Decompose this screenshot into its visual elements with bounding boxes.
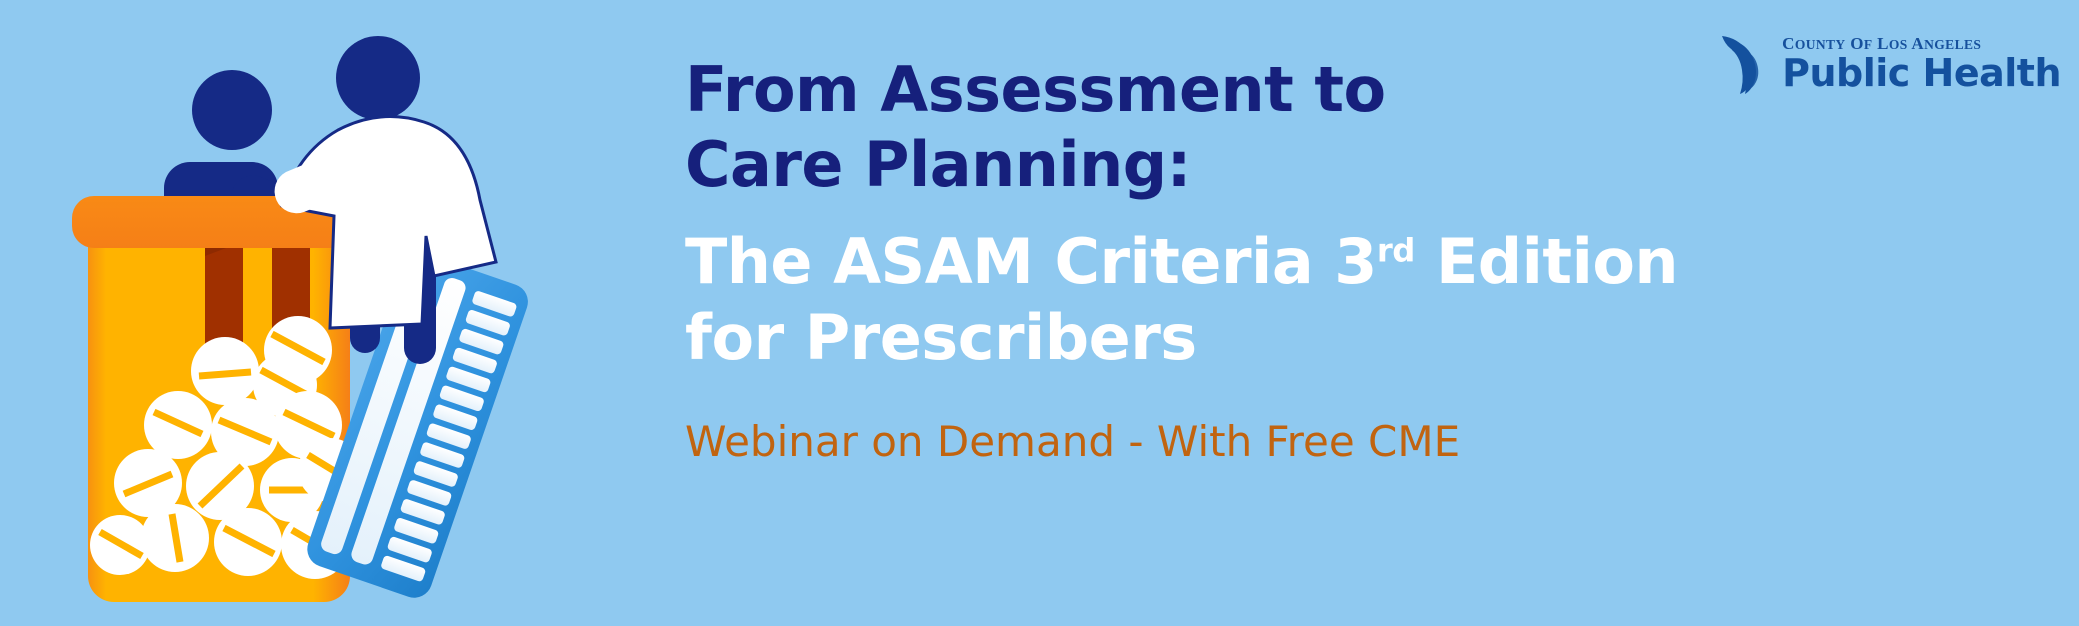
pill-bottle-illustration bbox=[0, 0, 620, 626]
tagline: Webinar on Demand - With Free CME bbox=[685, 416, 1765, 468]
subtitle-prefix: The ASAM Criteria 3 bbox=[685, 225, 1377, 298]
la-county-public-health-logo: COUNTY OF LOS ANGELES Public Health bbox=[1718, 32, 2061, 94]
subtitle-line-1: The ASAM Criteria 3rd Edition bbox=[685, 224, 1765, 300]
profile-faces-emblem-icon bbox=[1718, 32, 1776, 94]
logo-county-line: COUNTY OF LOS ANGELES bbox=[1782, 35, 2061, 52]
pill bbox=[141, 504, 209, 572]
subtitle-suffix: Edition bbox=[1415, 225, 1678, 298]
webinar-promo-banner: From Assessment to Care Planning: The AS… bbox=[0, 0, 2079, 626]
pill bbox=[90, 515, 150, 575]
pill bbox=[191, 337, 259, 405]
title-line-2: Care Planning: bbox=[685, 127, 1765, 202]
logo-wordmark: COUNTY OF LOS ANGELES Public Health bbox=[1782, 35, 2061, 92]
banner-text-block: From Assessment to Care Planning: The AS… bbox=[685, 52, 1765, 468]
ordinal-suffix: rd bbox=[1377, 231, 1415, 269]
subtitle-line-2: for Prescribers bbox=[685, 300, 1765, 376]
pill bbox=[214, 508, 282, 576]
logo-public-health-line: Public Health bbox=[1782, 54, 2061, 92]
pill bbox=[144, 391, 212, 459]
title-line-1: From Assessment to bbox=[685, 52, 1765, 127]
subtitle-block: The ASAM Criteria 3rd Edition for Prescr… bbox=[685, 224, 1765, 376]
